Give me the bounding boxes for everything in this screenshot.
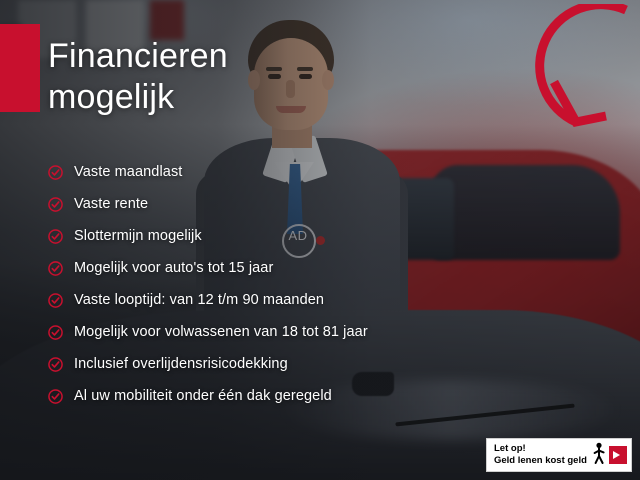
warning-line-1: Let op! (494, 443, 589, 455)
list-item: Vaste maandlast (48, 156, 468, 188)
red-accent-square (0, 24, 40, 112)
headline-line-2: mogelijk (48, 77, 228, 118)
red-arrow-icon (609, 446, 627, 464)
list-item-label: Inclusief overlijdensrisicodekking (74, 356, 288, 372)
red-arc-decoration (514, 4, 634, 134)
list-item-label: Slottermijn mogelijk (74, 228, 202, 244)
list-item-label: Mogelijk voor volwassenen van 18 tot 81 … (74, 324, 368, 340)
check-circle-icon (48, 165, 63, 180)
list-item-label: Mogelijk voor auto's tot 15 jaar (74, 260, 273, 276)
page-title: Financieren mogelijk (48, 36, 228, 119)
walking-person-icon (591, 442, 607, 468)
list-item-label: Vaste looptijd: van 12 t/m 90 maanden (74, 292, 324, 308)
check-circle-icon (48, 389, 63, 404)
list-item: Vaste looptijd: van 12 t/m 90 maanden (48, 284, 468, 316)
list-item: Slottermijn mogelijk (48, 220, 468, 252)
warning-text: Let op! Geld lenen kost geld (494, 443, 589, 467)
check-circle-icon (48, 197, 63, 212)
status-badge: Let op! Geld lenen kost geld (486, 438, 632, 472)
list-item: Mogelijk voor auto's tot 15 jaar (48, 252, 468, 284)
list-item: Inclusief overlijdensrisicodekking (48, 348, 468, 380)
list-item-label: Vaste maandlast (74, 164, 182, 180)
warning-line-2: Geld lenen kost geld (494, 455, 589, 467)
check-circle-icon (48, 325, 63, 340)
list-item-label: Al uw mobiliteit onder één dak geregeld (74, 388, 332, 404)
list-item: Al uw mobiliteit onder één dak geregeld (48, 380, 468, 412)
headline-line-1: Financieren (48, 36, 228, 77)
feature-list: Vaste maandlast Vaste rente Slottermijn … (48, 156, 468, 412)
check-circle-icon (48, 357, 63, 372)
list-item-label: Vaste rente (74, 196, 148, 212)
promo-banner: AD Financieren mogelijk Vaste (0, 0, 640, 480)
check-circle-icon (48, 293, 63, 308)
list-item: Mogelijk voor volwassenen van 18 tot 81 … (48, 316, 468, 348)
check-circle-icon (48, 261, 63, 276)
list-item: Vaste rente (48, 188, 468, 220)
check-circle-icon (48, 229, 63, 244)
